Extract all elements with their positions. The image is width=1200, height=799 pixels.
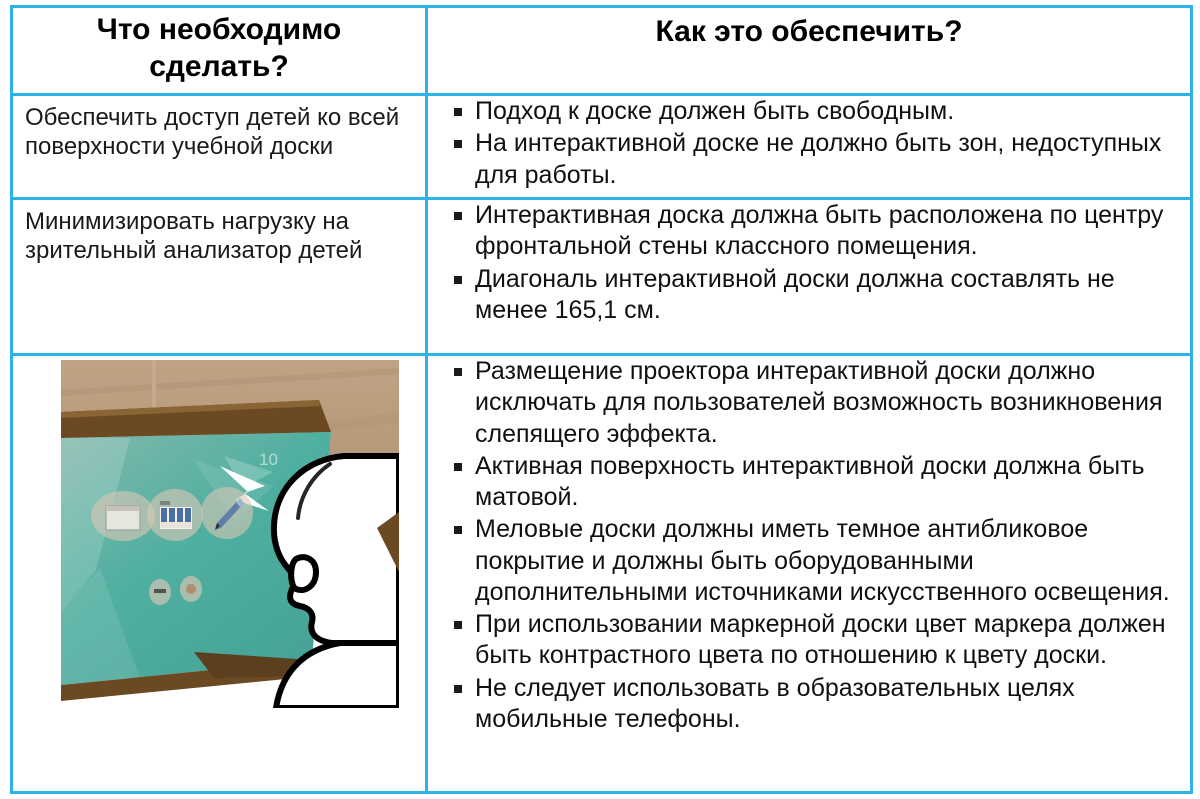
table-row: Обеспечить доступ детей ко всей поверхно… bbox=[12, 95, 1192, 199]
list-item: Диагональ интерактивной доски должна сос… bbox=[428, 264, 1190, 327]
interactive-whiteboard-glare-photo: 10 bbox=[44, 360, 399, 708]
measure-text: Подход к доске должен быть свободным. bbox=[475, 97, 954, 125]
minus-icon bbox=[154, 589, 166, 593]
measure-text: Меловые доски должны иметь темное антибл… bbox=[475, 515, 1170, 606]
task-text-1: Обеспечить доступ детей ко всей поверхно… bbox=[13, 96, 425, 168]
list-item: Размещение проектора интерактивной доски… bbox=[428, 356, 1190, 450]
measures-cell-1: Подход к доске должен быть свободным. На… bbox=[427, 95, 1192, 199]
list-item: Интерактивная доска должна быть располож… bbox=[428, 200, 1190, 263]
list-item: Не следует использовать в образовательны… bbox=[428, 673, 1190, 736]
illustration-cell: 10 bbox=[12, 355, 427, 793]
measure-text: При использовании маркерной доски цвет м… bbox=[475, 610, 1166, 669]
measure-text: На интерактивной доске не должно быть зо… bbox=[475, 129, 1161, 188]
header-cell-measures: Как это обеспечить? bbox=[427, 7, 1192, 95]
board-label: 10 bbox=[259, 450, 278, 469]
slide-page: Что необходимо сделать? Как это обеспечи… bbox=[0, 0, 1200, 799]
bullet-square-icon bbox=[454, 276, 462, 284]
bullet-square-icon bbox=[454, 140, 462, 148]
table-row: Минимизировать нагрузку на зрительный ан… bbox=[12, 199, 1192, 355]
bullet-square-icon bbox=[454, 368, 462, 376]
list-item: Меловые доски должны иметь темное антибл… bbox=[428, 514, 1190, 608]
task-cell-2: Минимизировать нагрузку на зрительный ан… bbox=[12, 199, 427, 355]
plus-icon bbox=[186, 584, 196, 594]
table-header-row: Что необходимо сделать? Как это обеспечи… bbox=[12, 7, 1192, 95]
list-item: Подход к доске должен быть свободным. bbox=[428, 96, 1190, 127]
whiteboard-illustration-svg: 10 bbox=[44, 360, 399, 708]
list-item: Активная поверхность интерактивной доски… bbox=[428, 451, 1190, 514]
measures-list-1: Подход к доске должен быть свободным. На… bbox=[428, 96, 1190, 191]
table-row: 10 bbox=[12, 355, 1192, 793]
bullet-square-icon bbox=[454, 108, 462, 116]
bullet-square-icon bbox=[454, 463, 462, 471]
measure-text: Интерактивная доска должна быть располож… bbox=[475, 201, 1163, 260]
window-icon bbox=[106, 506, 140, 530]
header-cell-task: Что необходимо сделать? bbox=[12, 7, 427, 95]
requirements-table: Что необходимо сделать? Как это обеспечи… bbox=[10, 5, 1193, 794]
measures-cell-2: Интерактивная доска должна быть располож… bbox=[427, 199, 1192, 355]
list-item: При использовании маркерной доски цвет м… bbox=[428, 609, 1190, 672]
measure-text: Диагональ интерактивной доски должна сос… bbox=[475, 265, 1115, 324]
measure-text: Не следует использовать в образовательны… bbox=[475, 674, 1075, 733]
bullet-square-icon bbox=[454, 526, 462, 534]
bullet-square-icon bbox=[454, 621, 462, 629]
task-text-2: Минимизировать нагрузку на зрительный ан… bbox=[13, 200, 425, 272]
measure-text: Размещение проектора интерактивной доски… bbox=[475, 357, 1163, 448]
measures-list-3: Размещение проектора интерактивной доски… bbox=[428, 356, 1190, 735]
measures-cell-3: Размещение проектора интерактивной доски… bbox=[427, 355, 1192, 793]
list-item: На интерактивной доске не должно быть зо… bbox=[428, 128, 1190, 191]
measure-text: Активная поверхность интерактивной доски… bbox=[475, 452, 1145, 511]
illustration-wrapper: 10 bbox=[13, 356, 425, 791]
bullet-square-icon bbox=[454, 212, 462, 220]
bullet-square-icon bbox=[454, 685, 462, 693]
header-title-measures: Как это обеспечить? bbox=[428, 8, 1190, 91]
student-silhouette bbox=[274, 456, 399, 708]
header-title-task: Что необходимо сделать? bbox=[13, 8, 425, 93]
measures-list-2: Интерактивная доска должна быть располож… bbox=[428, 200, 1190, 326]
task-cell-1: Обеспечить доступ детей ко всей поверхно… bbox=[12, 95, 427, 199]
